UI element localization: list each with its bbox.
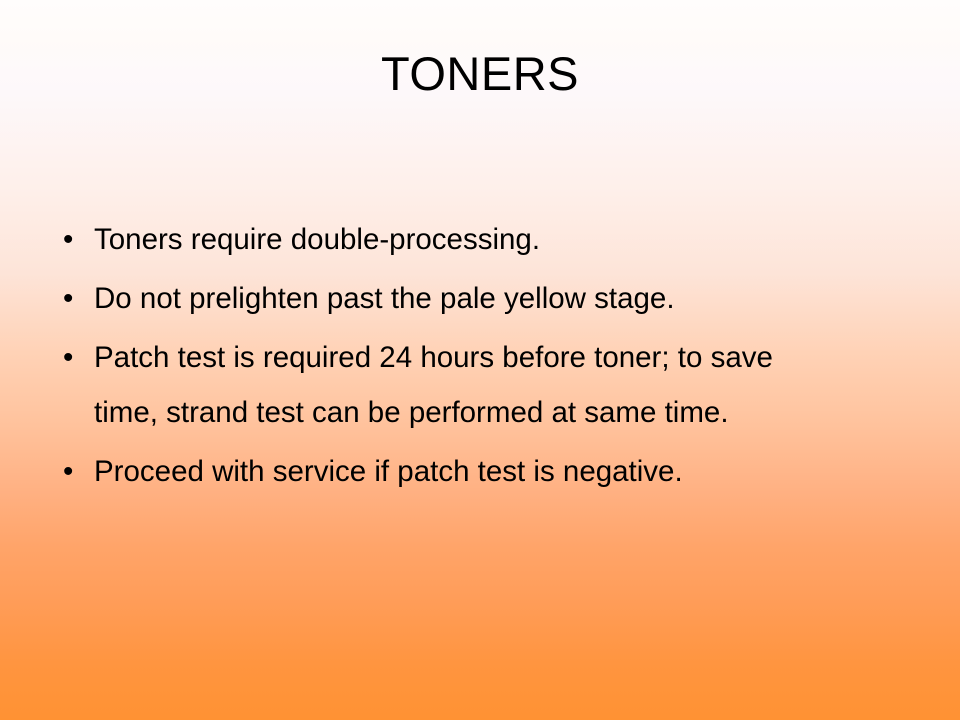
bullet-point-icon: •: [63, 330, 77, 385]
list-item: • Do not prelighten past the pale yellow…: [56, 271, 856, 326]
bullet-text: Patch test is required 24 hours before t…: [94, 330, 818, 440]
slide-canvas: TONERS • Toners require double-processin…: [0, 0, 960, 720]
slide-body-container: • Toners require double-processing. • Do…: [56, 212, 856, 503]
list-item: • Toners require double-processing.: [56, 212, 856, 267]
slide-title-container: TONERS: [0, 48, 960, 100]
list-item: • Patch test is required 24 hours before…: [56, 330, 856, 440]
bullet-list: • Toners require double-processing. • Do…: [56, 212, 856, 499]
bullet-text: Do not prelighten past the pale yellow s…: [94, 271, 810, 326]
bullet-point-icon: •: [63, 444, 77, 499]
bullet-text: Proceed with service if patch test is ne…: [94, 444, 794, 499]
bullet-point-icon: •: [63, 212, 77, 267]
bullet-text: Toners require double-processing.: [94, 212, 834, 267]
bullet-point-icon: •: [63, 271, 77, 326]
list-item: • Proceed with service if patch test is …: [56, 444, 856, 499]
page-title: TONERS: [381, 48, 579, 100]
